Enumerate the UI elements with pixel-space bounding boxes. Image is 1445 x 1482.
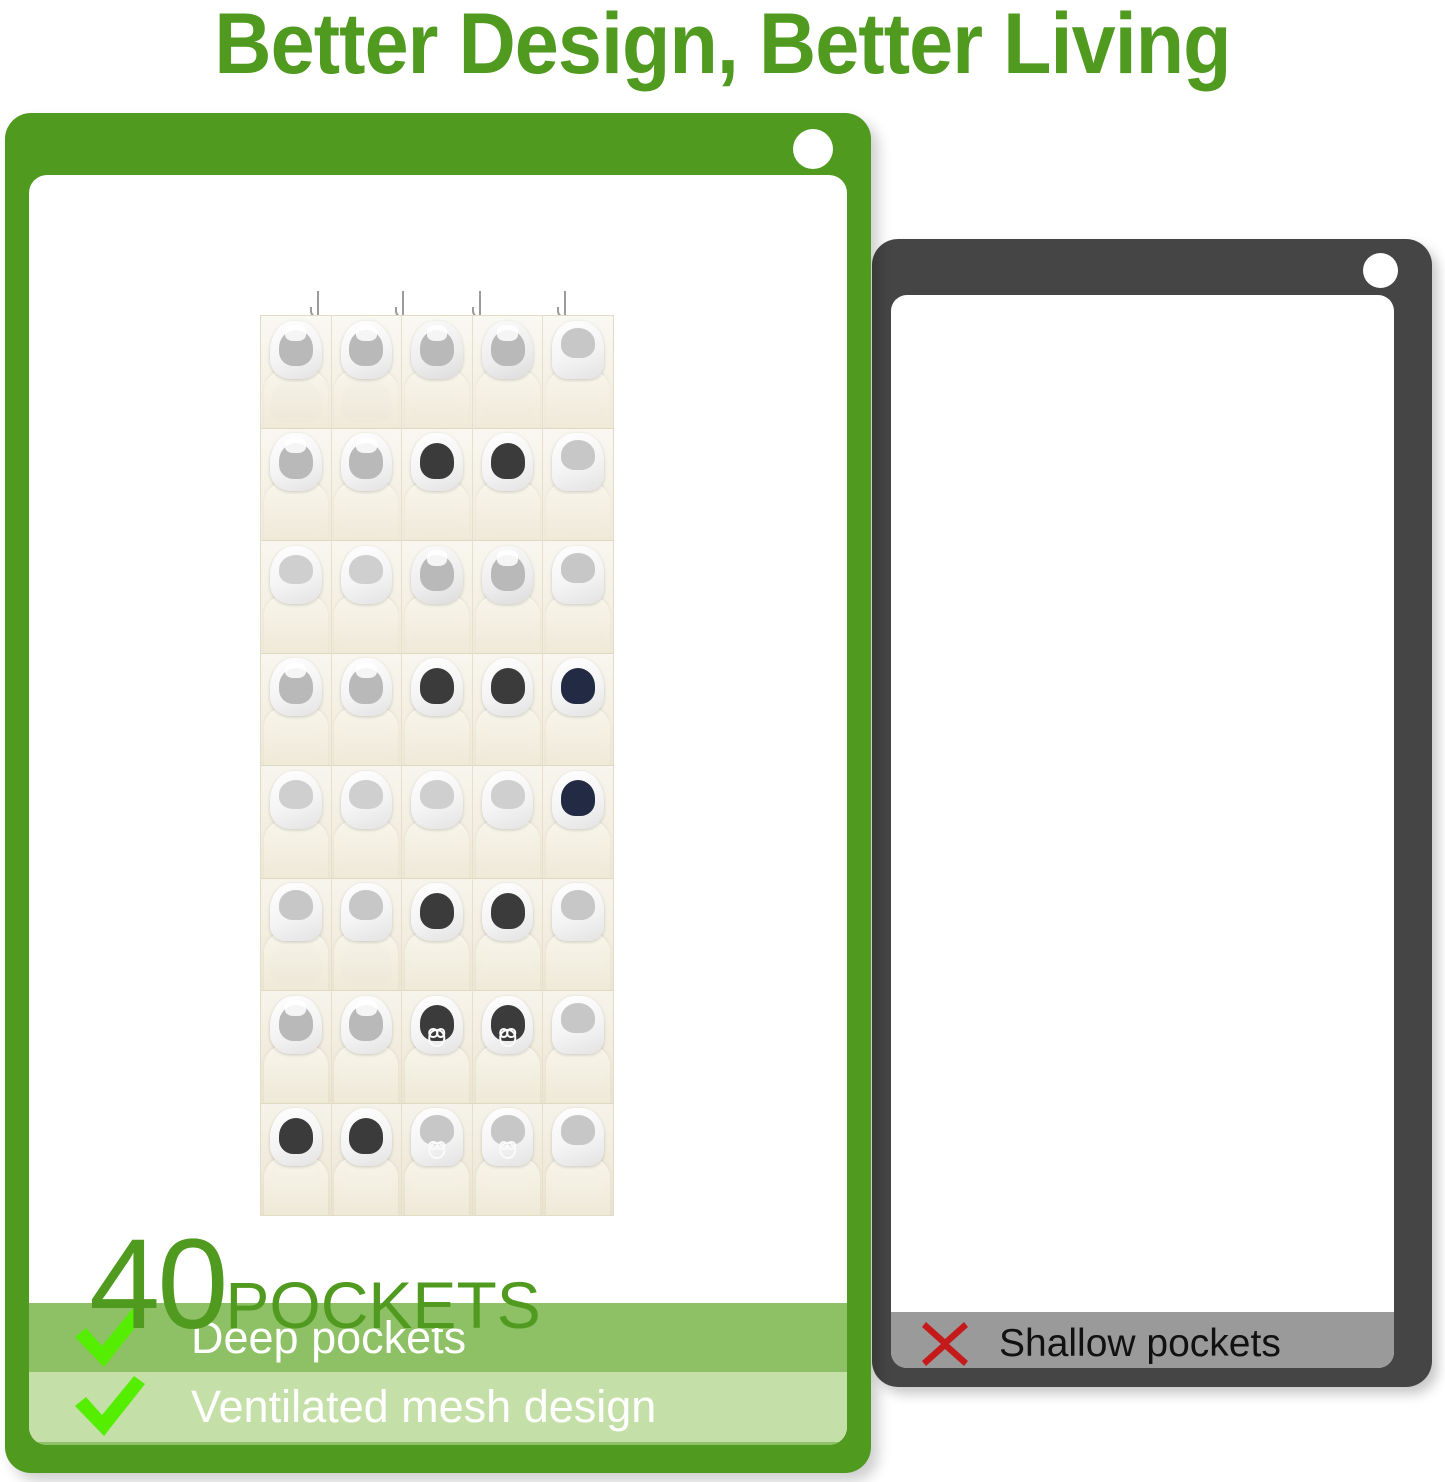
feature-label: Shallow pockets — [999, 1322, 1281, 1366]
product-card: 40 POCKETS Deep pockets Ventilated — [5, 113, 871, 1473]
pocket-column — [402, 316, 473, 1215]
check-icon — [29, 1442, 191, 1445]
competitor-feature-list: Shallow pockets Stuffy compartments Limi… — [891, 1312, 1394, 1368]
hang-hole-icon — [1363, 253, 1398, 288]
feature-row: Large capacity — [29, 1442, 847, 1445]
pocket-column — [261, 316, 332, 1215]
competitor-card-body: 24POCKETS Shallow pockets Stuffy compart… — [891, 295, 1394, 1368]
product-pocket-count: 40 POCKETS — [89, 1221, 541, 1349]
pocket-count-word: POCKETS — [225, 1272, 540, 1338]
organizer-grid — [260, 315, 614, 1216]
competitor-card: 24POCKETS Shallow pockets Stuffy compart… — [872, 239, 1432, 1387]
hang-hole-icon — [793, 129, 833, 169]
pocket-column — [332, 316, 403, 1215]
door-hooks — [260, 291, 614, 317]
feature-row: Shallow pockets — [891, 1312, 1394, 1368]
feature-label: Ventilated mesh design — [191, 1381, 656, 1433]
pocket-column — [543, 316, 613, 1215]
product-image — [260, 291, 614, 1216]
pocket-count-number: 40 — [89, 1221, 225, 1349]
product-card-body: 40 POCKETS Deep pockets Ventilated — [29, 175, 847, 1445]
check-icon — [29, 1373, 191, 1441]
pocket-column — [473, 316, 544, 1215]
feature-row: Ventilated mesh design — [29, 1372, 847, 1441]
cross-icon — [891, 1315, 999, 1368]
page-title: Better Design, Better Living — [58, 0, 1387, 92]
